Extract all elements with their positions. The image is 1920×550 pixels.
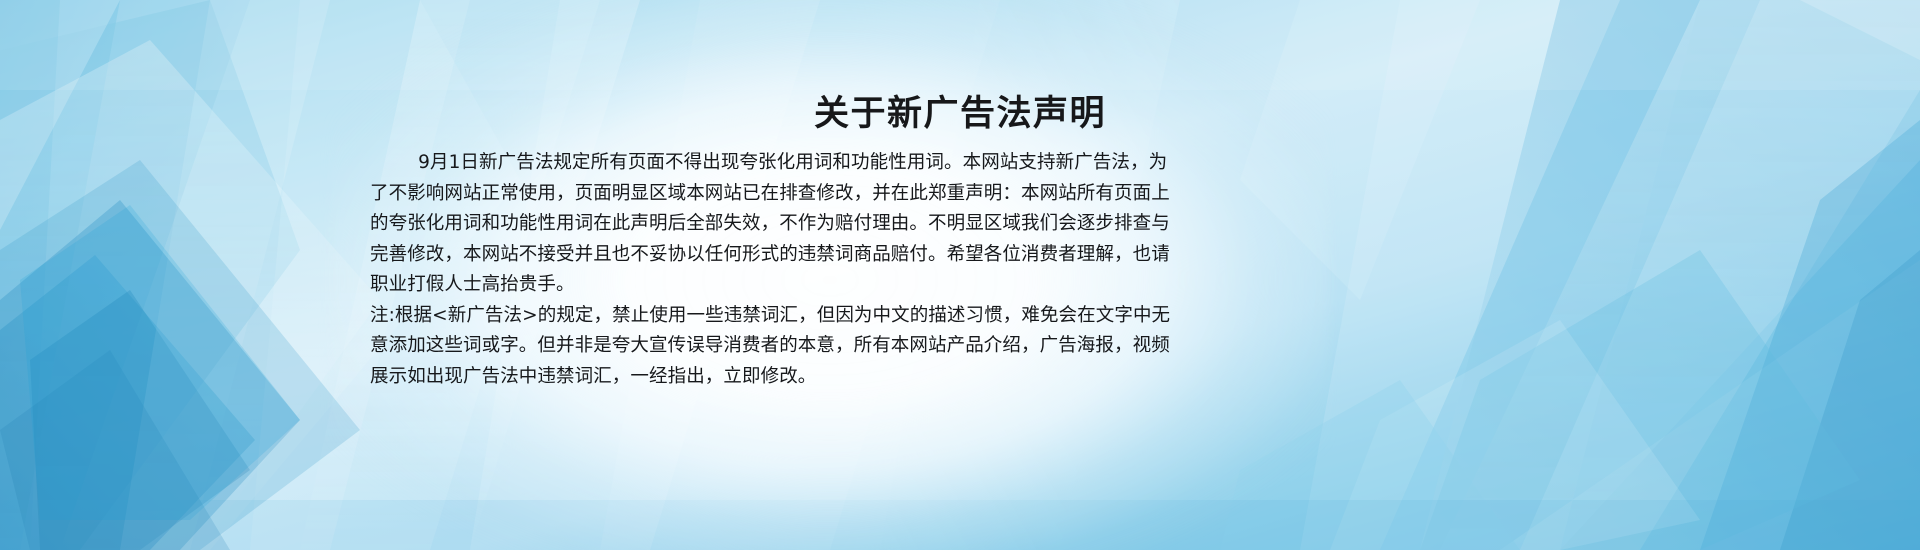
- announcement-banner: 关于新广告法声明 9月1日新广告法规定所有页面不得出现夸张化用词和功能性用词。本…: [0, 0, 1920, 550]
- announcement-paragraph-2: 注:根据<新广告法>的规定，禁止使用一些违禁词汇，但因为中文的描述习惯，难免会在…: [370, 301, 1180, 393]
- announcement-body: 9月1日新广告法规定所有页面不得出现夸张化用词和功能性用词。本网站支持新广告法，…: [370, 148, 1180, 392]
- announcement-paragraph-1: 9月1日新广告法规定所有页面不得出现夸张化用词和功能性用词。本网站支持新广告法，…: [370, 148, 1180, 301]
- page-title: 关于新广告法声明: [0, 93, 1920, 135]
